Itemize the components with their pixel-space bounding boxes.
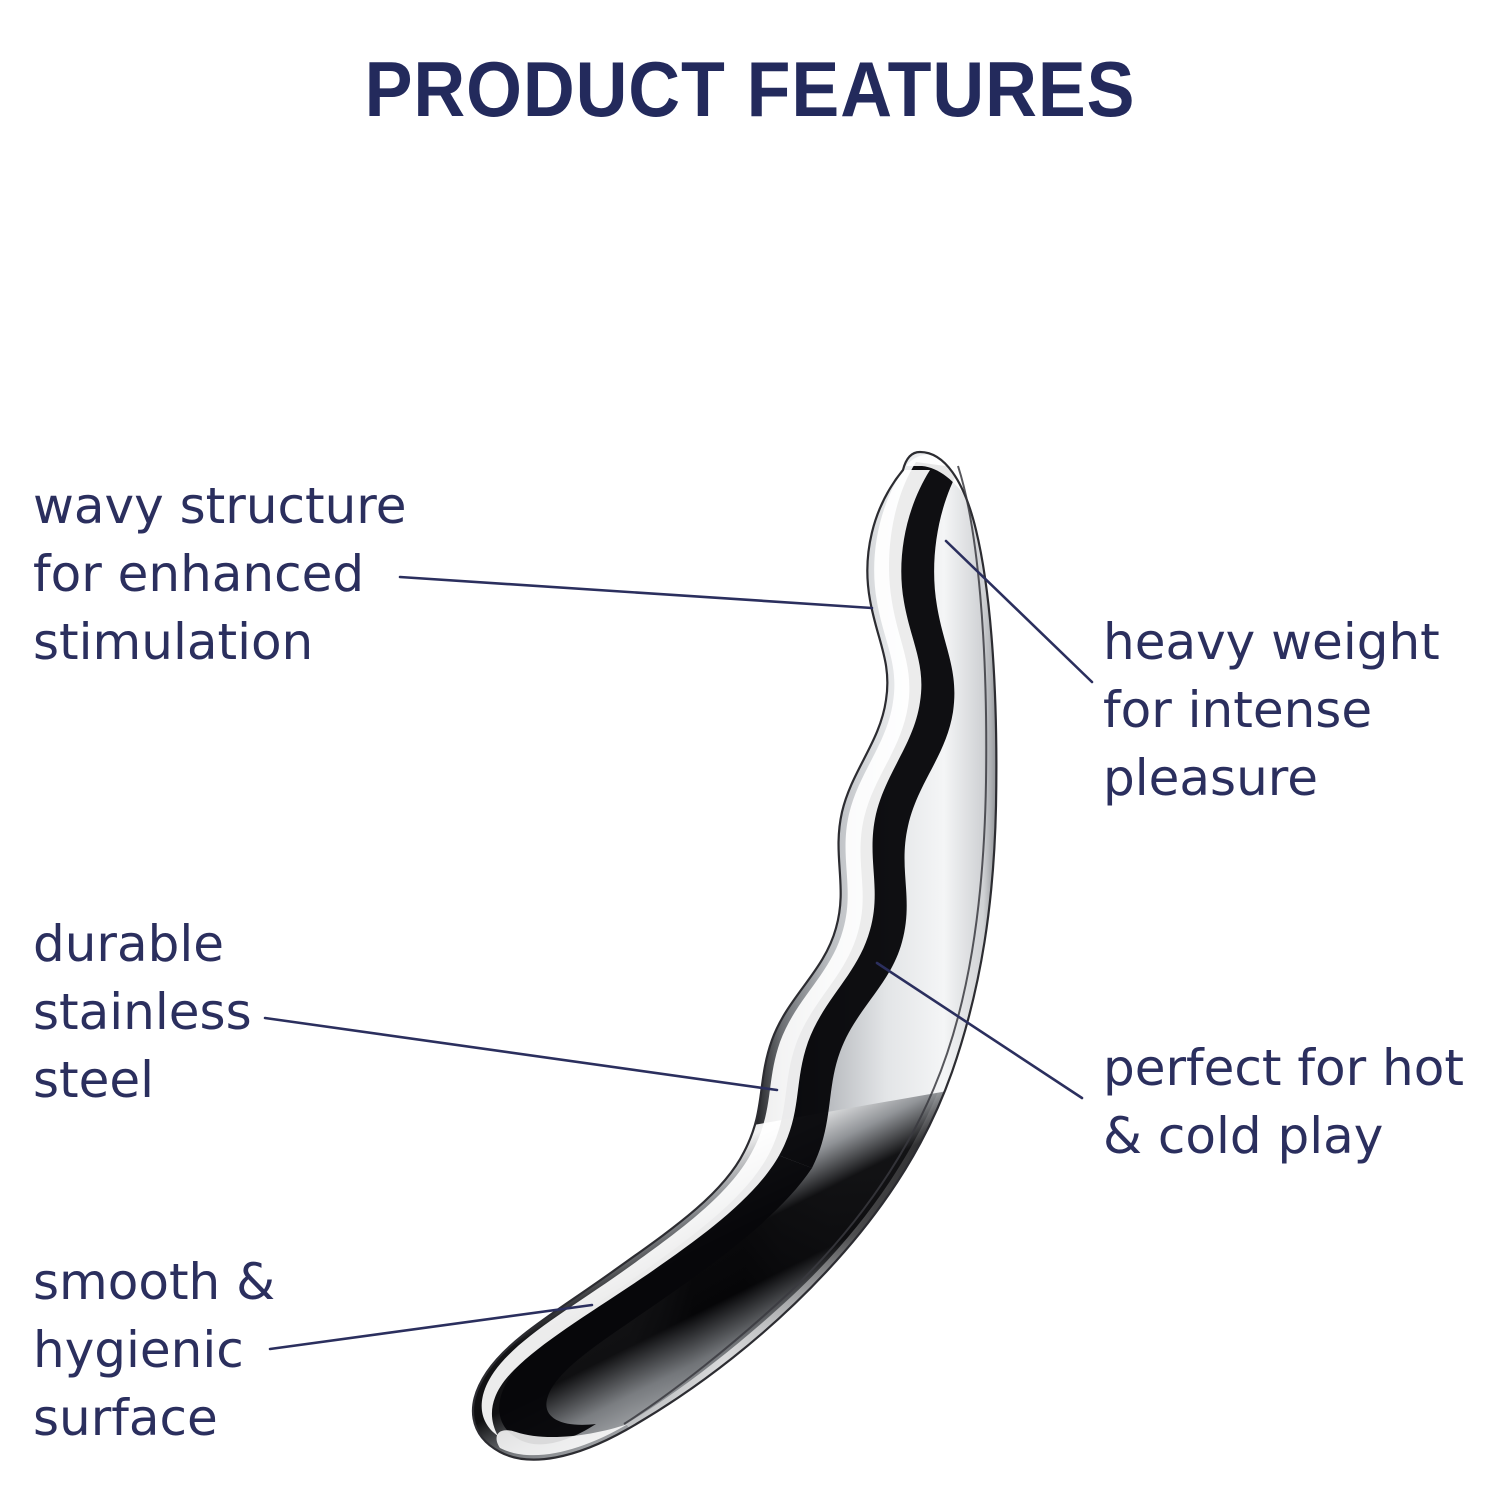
- leader-line-wavy-structure: [400, 577, 872, 608]
- callout-label-heavy-weight: heavy weight for intense pleasure: [1103, 608, 1440, 812]
- product-features-page: PRODUCT FEATURES: [0, 0, 1500, 1500]
- callout-label-wavy-structure: wavy structure for enhanced stimulation: [33, 472, 407, 676]
- leader-line-durable-stainless-steel: [265, 1018, 777, 1090]
- callout-label-smooth-hygienic-surface: smooth & hygienic surface: [33, 1248, 275, 1452]
- product-body: [440, 452, 1025, 1500]
- callout-label-hot-cold-play: perfect for hot & cold play: [1103, 1034, 1464, 1170]
- callout-label-durable-stainless-steel: durable stainless steel: [33, 910, 252, 1114]
